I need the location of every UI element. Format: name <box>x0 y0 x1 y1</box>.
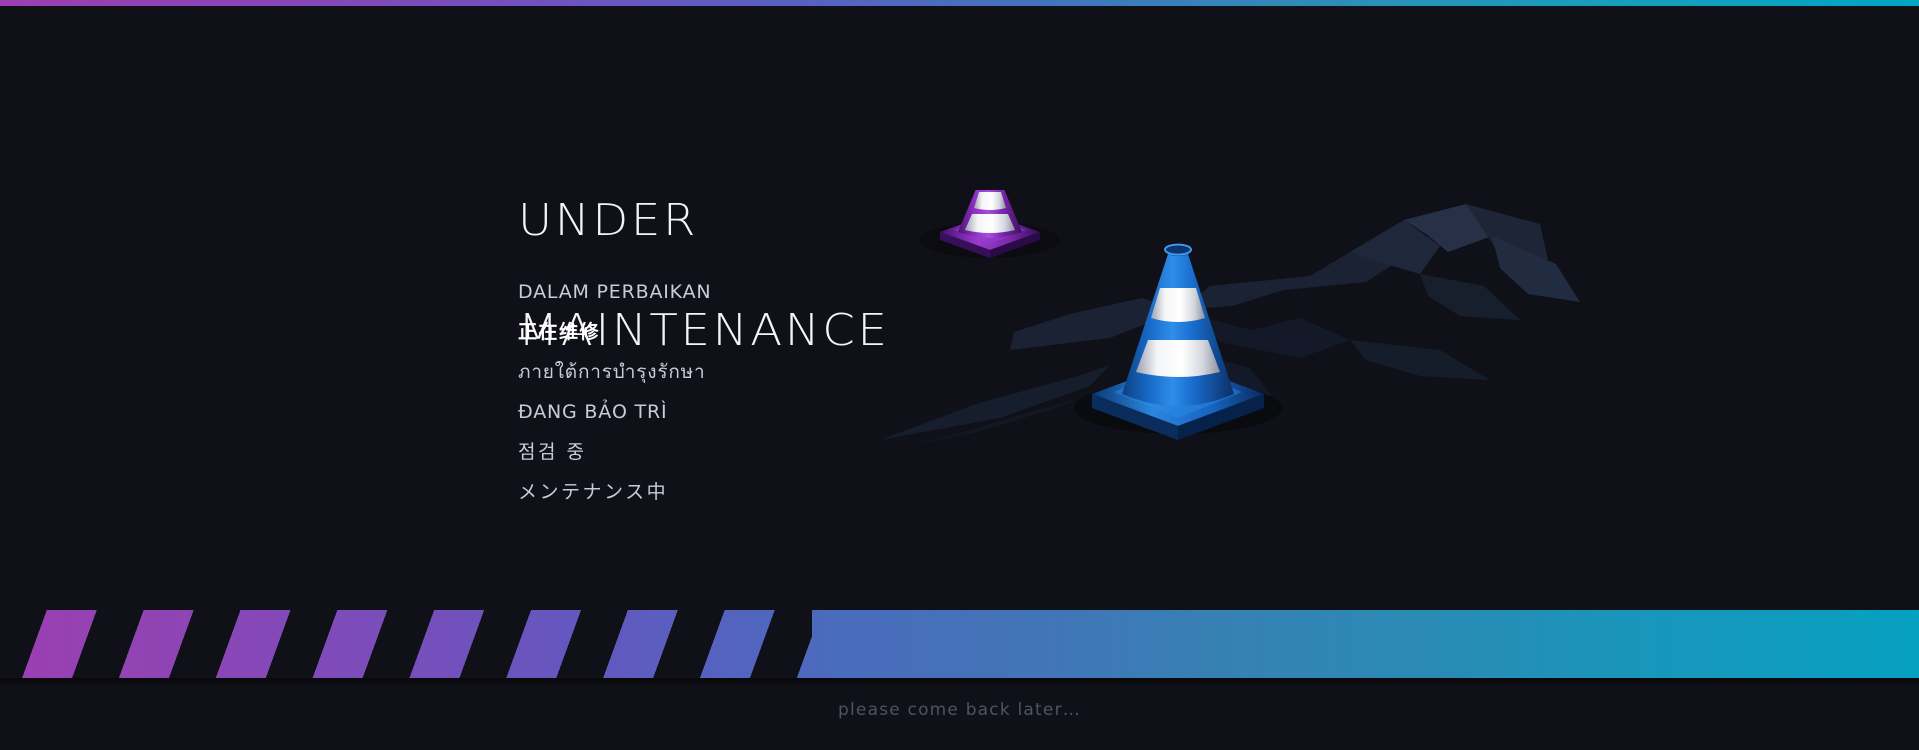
translation-chinese: 正在维修 <box>518 312 711 352</box>
traffic-cone-purple <box>920 190 1060 258</box>
translation-korean: 점검 중 <box>518 432 711 472</box>
footer-note: please come back later… <box>0 700 1919 720</box>
band-stripe-mask <box>0 610 812 678</box>
translation-vietnamese: ĐANG BẢO TRÌ <box>518 392 711 432</box>
barricade-band <box>0 610 1919 678</box>
maintenance-illustration <box>880 190 1580 520</box>
translation-indonesian: DALAM PERBAIKAN <box>518 272 711 312</box>
top-accent-bar <box>0 0 1919 6</box>
maintenance-page: UNDER MAINTENANCE DALAM PERBAIKAN 正在维修 ภ… <box>0 0 1919 750</box>
band-shadow <box>0 678 1919 688</box>
translation-thai: ภายใต้การบำรุงรักษา <box>518 352 711 392</box>
translation-japanese: メンテナンス中 <box>518 472 711 512</box>
translation-list: DALAM PERBAIKAN 正在维修 ภายใต้การบำรุงรักษา… <box>518 272 711 512</box>
page-title-line-1: UNDER <box>518 193 890 248</box>
